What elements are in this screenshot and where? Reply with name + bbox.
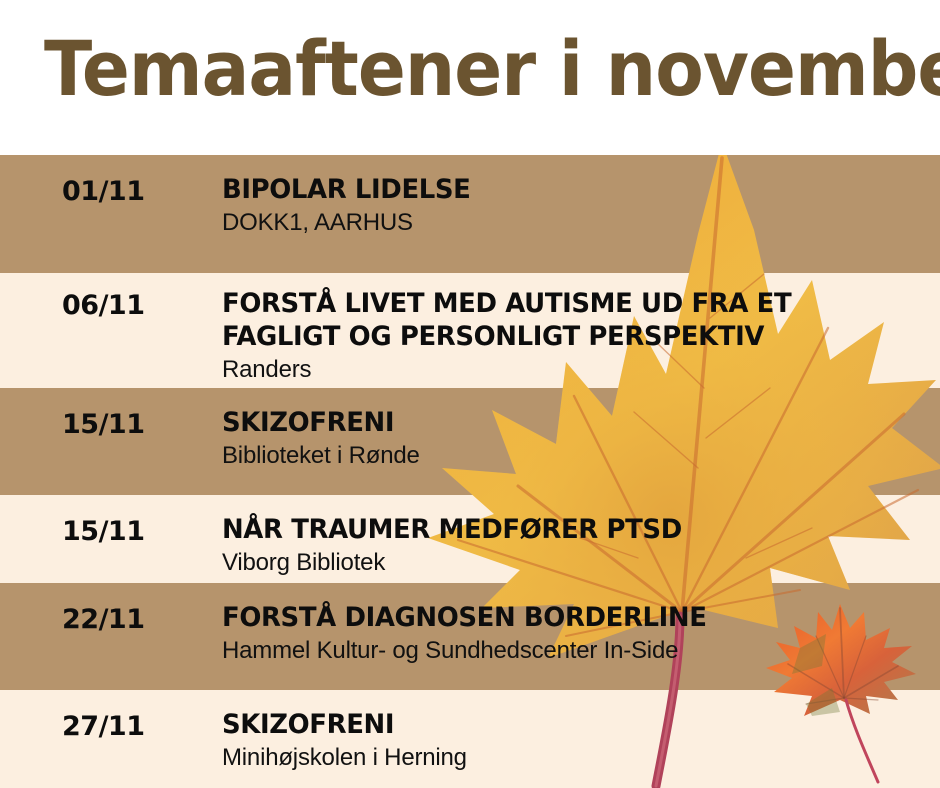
event-title: SKIZOFRENI	[222, 406, 902, 439]
event-date: 01/11	[62, 177, 145, 207]
page-title: Temaaftener i november	[44, 26, 940, 112]
event-date: 15/11	[62, 517, 145, 547]
event-details: BIPOLAR LIDELSEDOKK1, AARHUS	[222, 173, 930, 238]
poster-header: Temaaftener i november	[0, 0, 940, 155]
event-venue: Randers	[222, 355, 930, 385]
event-title: FORSTÅ LIVET MED AUTISME UD FRA ET FAGLI…	[222, 287, 836, 353]
schedule-row[interactable]: 27/11SKIZOFRENIMinihøjskolen i Herning	[0, 690, 940, 788]
event-venue: Minihøjskolen i Herning	[222, 743, 930, 773]
event-title: BIPOLAR LIDELSE	[222, 173, 902, 206]
event-venue: Hammel Kultur- og Sundhedscenter In-Side	[222, 636, 930, 666]
event-date: 22/11	[62, 605, 145, 635]
event-details: FORSTÅ DIAGNOSEN BORDERLINEHammel Kultur…	[222, 601, 930, 666]
schedule-row[interactable]: 15/11SKIZOFRENIBiblioteket i Rønde	[0, 388, 940, 495]
event-venue: Biblioteket i Rønde	[222, 441, 930, 471]
schedule-row[interactable]: 06/11FORSTÅ LIVET MED AUTISME UD FRA ET …	[0, 273, 940, 388]
event-title: NÅR TRAUMER MEDFØRER PTSD	[222, 513, 902, 546]
event-title: FORSTÅ DIAGNOSEN BORDERLINE	[222, 601, 902, 634]
event-date: 15/11	[62, 410, 145, 440]
event-details: SKIZOFRENIMinihøjskolen i Herning	[222, 708, 930, 773]
schedule-row[interactable]: 01/11BIPOLAR LIDELSEDOKK1, AARHUS	[0, 155, 940, 273]
schedule-row[interactable]: 15/11NÅR TRAUMER MEDFØRER PTSDViborg Bib…	[0, 495, 940, 583]
event-details: FORSTÅ LIVET MED AUTISME UD FRA ET FAGLI…	[222, 287, 930, 385]
schedule-row[interactable]: 22/11FORSTÅ DIAGNOSEN BORDERLINEHammel K…	[0, 583, 940, 690]
event-date: 06/11	[62, 291, 145, 321]
event-venue: Viborg Bibliotek	[222, 548, 930, 578]
event-venue: DOKK1, AARHUS	[222, 208, 930, 238]
poster-canvas: Temaaftener i november 01/11BIPOLAR LIDE…	[0, 0, 940, 788]
event-details: SKIZOFRENIBiblioteket i Rønde	[222, 406, 930, 471]
event-details: NÅR TRAUMER MEDFØRER PTSDViborg Bibliote…	[222, 513, 930, 578]
event-date: 27/11	[62, 712, 145, 742]
event-title: SKIZOFRENI	[222, 708, 902, 741]
